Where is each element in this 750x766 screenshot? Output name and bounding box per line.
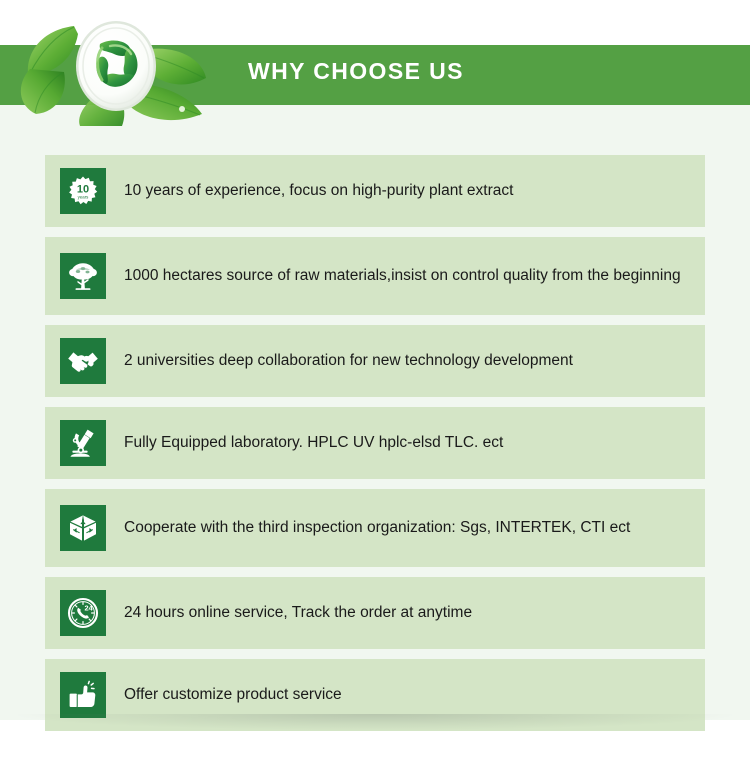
list-item-label: 2 universities deep collaboration for ne… <box>124 350 587 372</box>
panel-shadow <box>18 714 732 730</box>
infographic-page: WHY CHOOSE US <box>0 0 750 766</box>
list-item-label: Offer customize product service <box>124 684 356 706</box>
list-item: 10 years 10 years of experience, focus o… <box>45 155 705 227</box>
list-item: 2 universities deep collaboration for ne… <box>45 325 705 397</box>
list-item: Cooperate with the third inspection orga… <box>45 489 705 567</box>
microscope-icon <box>60 420 106 466</box>
ten-years-badge-icon: 10 years <box>60 168 106 214</box>
svg-text:years: years <box>78 195 90 200</box>
handshake-icon <box>60 338 106 384</box>
list-item-label: 24 hours online service, Track the order… <box>124 602 486 624</box>
leaf-shape <box>21 69 65 114</box>
clock-phone-24-icon: 24 <box>60 590 106 636</box>
list-item: Fully Equipped laboratory. HPLC UV hplc-… <box>45 407 705 479</box>
list-item: 1000 hectares source of raw materials,in… <box>45 237 705 315</box>
list-item-label: Fully Equipped laboratory. HPLC UV hplc-… <box>124 432 517 454</box>
feature-list: 10 years 10 years of experience, focus o… <box>45 155 705 741</box>
list-item-label: 10 years of experience, focus on high-pu… <box>124 180 527 202</box>
cube-box-icon <box>60 505 106 551</box>
clock-24-label: 24 <box>84 603 93 612</box>
list-item-label: 1000 hectares source of raw materials,in… <box>124 265 695 287</box>
leaf-shape <box>28 26 78 74</box>
list-item-label: Cooperate with the third inspection orga… <box>124 517 644 539</box>
tree-icon <box>60 253 106 299</box>
thumbs-up-icon <box>60 672 106 718</box>
page-title: WHY CHOOSE US <box>248 58 464 85</box>
list-item: 24 24 hours online service, Track the or… <box>45 577 705 649</box>
leaf-circle-logo <box>10 14 220 126</box>
